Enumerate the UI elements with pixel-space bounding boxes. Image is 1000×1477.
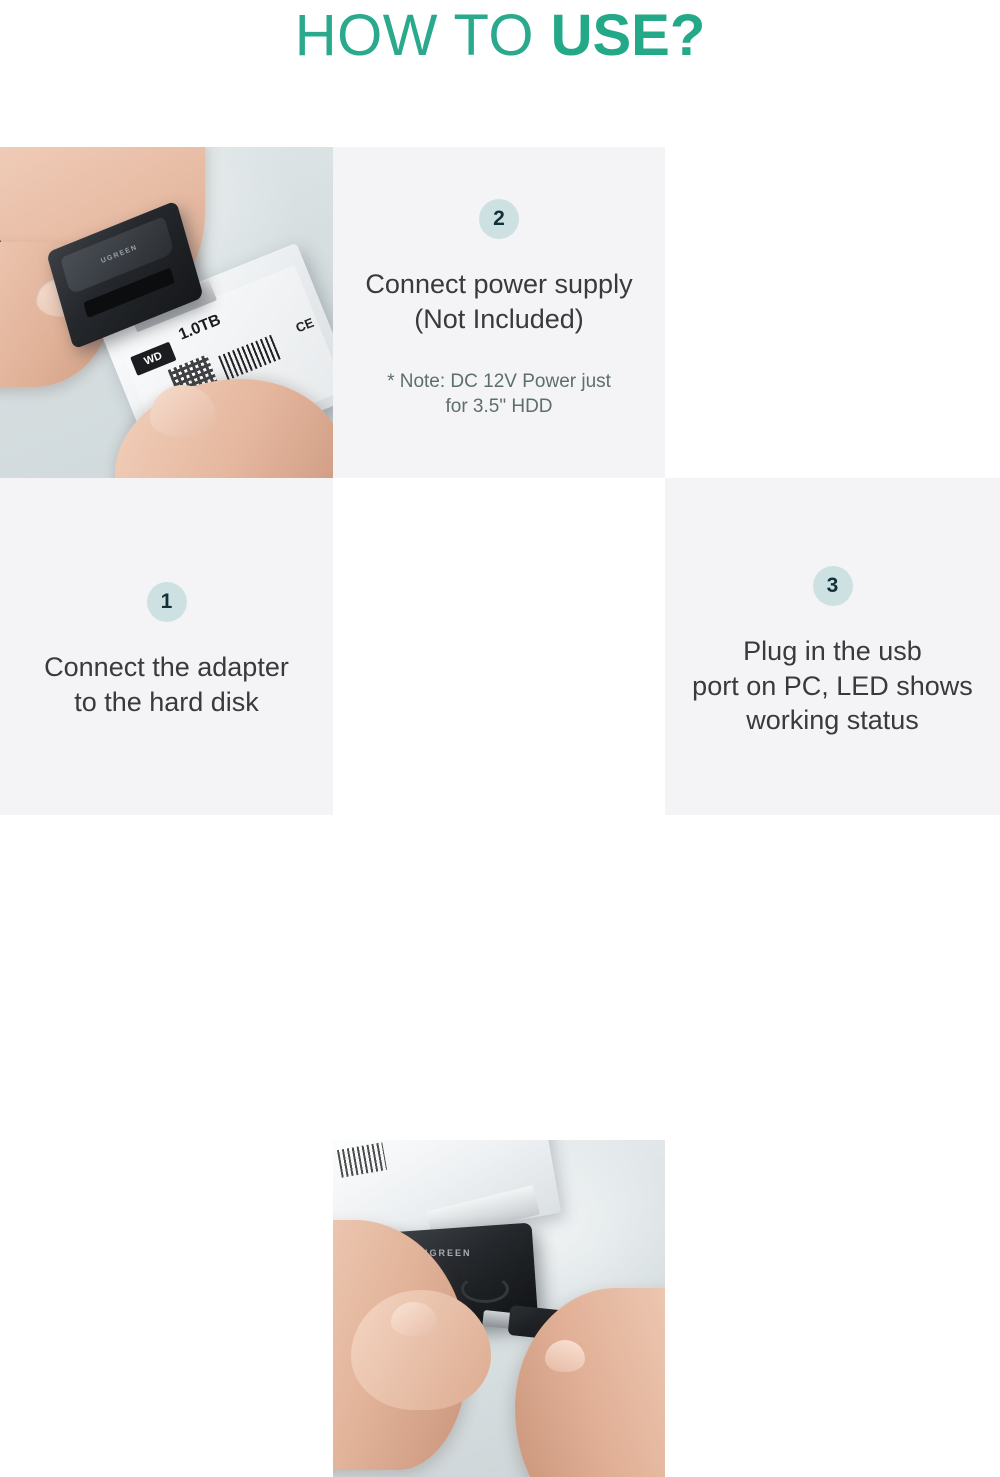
- fingernail: [545, 1340, 585, 1372]
- step-1-text-panel: 1 Connect the adapter to the hard disk: [0, 478, 333, 815]
- step-2-description: Connect power supply (Not Included): [365, 267, 632, 336]
- step-3-text-panel: 3 Plug in the usb port on PC, LED shows …: [665, 478, 1000, 815]
- step-3-description: Plug in the usb port on PC, LED shows wo…: [692, 634, 973, 738]
- step-1-badge: 1: [147, 582, 187, 622]
- steps-grid: WD 1.0TB CE UGREEN 2 Connect power suppl…: [0, 147, 1000, 815]
- step-2-text-panel: 2 Connect power supply (Not Included) * …: [333, 147, 665, 478]
- step-2-photo: UGREEN: [333, 1140, 665, 1477]
- step-2-note: * Note: DC 12V Power just for 3.5" HDD: [387, 370, 611, 419]
- fingernail: [391, 1302, 437, 1336]
- step-3-badge: 3: [813, 566, 853, 606]
- step-2-badge: 2: [479, 199, 519, 239]
- page-title: HOW TO USE?: [295, 6, 706, 67]
- adapter-arc-graphic: [461, 1275, 509, 1303]
- page-title-thin: HOW TO: [295, 3, 551, 68]
- step-1-photo: WD 1.0TB CE UGREEN: [0, 147, 333, 478]
- page-header: HOW TO USE?: [0, 0, 1000, 147]
- step-1-description: Connect the adapter to the hard disk: [44, 650, 289, 719]
- page-title-bold: USE?: [551, 3, 706, 68]
